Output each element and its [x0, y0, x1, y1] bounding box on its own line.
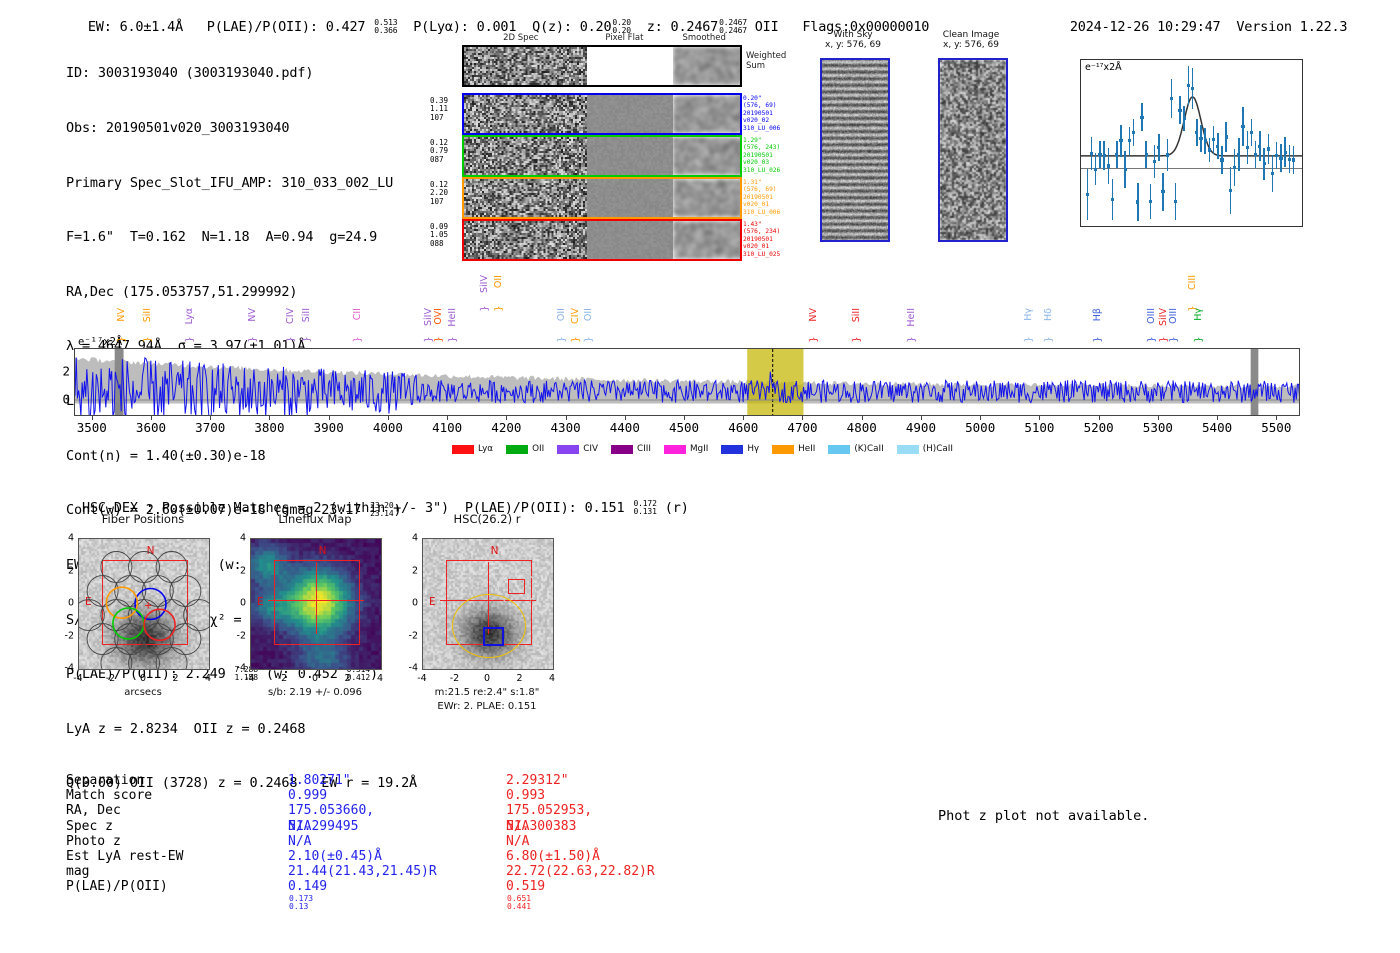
emission-line-label: SiII	[142, 308, 153, 322]
cutout-y-tick: 0	[228, 598, 246, 609]
emission-line-label: OIII	[1168, 308, 1179, 324]
cutout-x-tick: 0	[140, 673, 146, 684]
smoothed-image	[673, 47, 740, 85]
data-point	[1220, 158, 1223, 161]
match-col2-value: N/A	[506, 819, 529, 834]
emission-line-brace: {	[570, 336, 581, 342]
emission-line-brace: {	[556, 336, 567, 342]
spec2d-meta-line: 310_LU_025	[743, 251, 787, 258]
data-point	[1258, 145, 1261, 148]
emission-line-label: SiIV	[1158, 308, 1169, 326]
spectrum-x-tick: 5400	[1202, 420, 1232, 435]
spec2d-image	[464, 137, 587, 175]
spec2d-strip	[462, 45, 742, 87]
spec2d-meta-line: (576, 234)	[743, 228, 787, 235]
emission-line-label: OII	[583, 308, 594, 321]
spectrum-x-tick: 3600	[136, 420, 166, 435]
emission-line-label: Lyα	[184, 308, 195, 324]
emission-line-brace: {	[301, 336, 312, 342]
cutout-y-tick: 2	[56, 565, 74, 576]
spectrum-x-tick: 5000	[965, 420, 995, 435]
compass-north-label: N	[491, 545, 499, 557]
pixel-flat-image	[587, 95, 672, 133]
data-point	[1132, 131, 1135, 134]
cutout-y-tick: 0	[400, 598, 418, 609]
emission-line-brace: {	[432, 336, 443, 342]
cutout-title: HSC(26.2) r	[422, 512, 552, 526]
data-point	[1250, 131, 1253, 134]
cutout-image-1[interactable]: NE	[250, 538, 382, 670]
image-thumbnail-group: With Skyx, y: 576, 69Clean Imagex, y: 57…	[808, 30, 1023, 270]
legend-label: (K)CaII	[854, 444, 883, 454]
data-point	[1233, 166, 1236, 169]
spec2d-row-meta: 1.43"(576, 234)20190501v020_01310_LU_025	[743, 221, 787, 258]
spec2d-meta-line: 310_LU_006	[743, 209, 787, 216]
legend-item: (K)CaII	[828, 444, 883, 455]
spectrum-x-tick-mark	[151, 416, 152, 420]
spec2d-meta-line: v020_01	[743, 243, 787, 250]
spec2d-meta-line: 310_LU_026	[743, 167, 787, 174]
crosshair-vertical	[316, 562, 317, 634]
data-point	[1153, 160, 1156, 163]
pixel-flat-image	[587, 221, 672, 259]
match-row-label: mag	[66, 864, 266, 879]
y-tick-mark	[1080, 145, 1081, 146]
legend-item: Lyα	[452, 444, 493, 455]
info-cont-n: Cont(n) = 1.40(±0.30)e-18	[66, 447, 417, 465]
data-point	[1178, 109, 1181, 112]
match-col2-value: 2.29312"	[506, 773, 569, 788]
match-col2-value: N/A	[506, 834, 529, 849]
spec2d-meta-line: 20190501	[743, 194, 787, 201]
legend-swatch	[828, 445, 850, 454]
legend-swatch	[557, 445, 579, 454]
legend-swatch	[506, 445, 528, 454]
spectrum-x-tick: 4200	[491, 420, 521, 435]
spectrum-x-tick: 4900	[906, 420, 936, 435]
legend-label: MgII	[690, 444, 708, 454]
emission-plot-axes: e⁻¹⁷x2Å -1.0-0.50.00.51.01.52.0460046204…	[1080, 59, 1303, 227]
thumbnail-coords: x, y: 576, 69	[926, 40, 1016, 50]
wavelength-highlight-band	[747, 349, 803, 416]
thumbnail-coords: x, y: 576, 69	[808, 40, 898, 50]
data-point	[1149, 200, 1152, 203]
cutout-y-tick: -2	[228, 630, 246, 641]
x-tick-mark	[1260, 226, 1261, 227]
x-tick-mark	[1302, 226, 1303, 227]
spec2d-column-title-1: Pixel Flat	[605, 33, 643, 43]
emission-line-label: Hδ	[1043, 308, 1054, 321]
data-point	[1094, 168, 1097, 171]
emission-line-brace: {	[1168, 336, 1179, 342]
spec2d-image	[464, 221, 587, 259]
spec2d-row-metrics: 0.120.79087	[430, 139, 460, 164]
cutout-y-tick: 0	[56, 598, 74, 609]
data-point	[1204, 139, 1207, 142]
spec2d-image	[464, 179, 587, 217]
photz-note: Phot z plot not available.	[938, 808, 1149, 824]
cutout-y-tick: 2	[400, 565, 418, 576]
emission-line-label: Hγ	[1193, 308, 1204, 321]
spec2d-metric: 107	[430, 114, 460, 122]
spec2d-meta-line: v020_01	[743, 201, 787, 208]
cutout-x-tick: -2	[450, 673, 459, 684]
spectrum-x-tick-mark	[862, 416, 863, 420]
emission-line-brace: {	[447, 336, 458, 342]
spec2d-metric: 107	[430, 198, 460, 206]
legend-swatch	[772, 445, 794, 454]
spectrum-x-tick-mark	[506, 416, 507, 420]
emission-line-brace: {	[493, 305, 504, 311]
emission-line-brace: {	[807, 336, 818, 342]
spectrum-trace	[75, 349, 1300, 416]
match-col1-value: N/A	[288, 819, 311, 834]
emission-line-plot: e⁻¹⁷x2Å -1.0-0.50.00.51.01.52.0460046204…	[1038, 55, 1306, 255]
emission-line-label: NV	[808, 308, 819, 322]
spectrum-x-tick-mark	[92, 416, 93, 420]
data-point	[1086, 193, 1089, 196]
compass-east-label: E	[429, 596, 436, 608]
emission-line-label: OIII	[1146, 308, 1157, 324]
legend-label: CIV	[583, 444, 598, 454]
emission-line-brace: {	[850, 336, 861, 342]
spec2d-meta-line: 1.29"	[743, 137, 787, 144]
spec2d-row-metrics: 0.391.11107	[430, 97, 460, 122]
emission-line-label: SiIV	[479, 275, 490, 293]
spectrum-x-tick-mark	[802, 416, 803, 420]
emission-line-brace: {	[583, 336, 594, 342]
match-col1-value: 1.80271"	[288, 773, 351, 788]
match-col1-value: N/A	[288, 834, 311, 849]
cutout-y-tick: 4	[56, 533, 74, 544]
emission-line-brace: {	[247, 336, 258, 342]
compass-north-label: N	[319, 545, 327, 557]
legend-label: (H)CaII	[923, 444, 953, 454]
cutout-x-tick: 4	[205, 673, 211, 684]
data-point	[1288, 158, 1291, 161]
match-marker-blue	[483, 627, 504, 646]
emission-line-label: CIII	[1187, 275, 1198, 290]
cutout-y-tick: -4	[400, 663, 418, 674]
spectrum-x-tick-mark	[1217, 416, 1218, 420]
x-tick-mark	[1218, 226, 1219, 227]
spec2d-row-meta: 0.20"(576, 69)20190501v020_02310_LU_006	[743, 95, 787, 132]
data-point	[1107, 164, 1110, 167]
spec2d-meta-line: 1.31"	[743, 179, 787, 186]
cutout-x-tick: 2	[172, 673, 178, 684]
spectrum-x-tick-mark	[447, 416, 448, 420]
data-point	[1140, 116, 1143, 119]
spectrum-x-tick-mark	[269, 416, 270, 420]
x-tick-mark	[1092, 226, 1093, 227]
spec2d-image	[464, 95, 587, 133]
data-point	[1170, 97, 1173, 100]
spec2d-meta-line: (576, 243)	[743, 144, 787, 151]
spectrum-x-tick-mark	[625, 416, 626, 420]
spec2d-meta-line: v020_02	[743, 117, 787, 124]
legend-label: HeII	[798, 444, 815, 454]
emission-line-brace: {	[1193, 336, 1204, 342]
match-row-label: Match score	[66, 788, 266, 803]
cutout-caption-2: EWr: 2. PLAE: 0.151	[402, 701, 572, 712]
cutout-x-tick: 4	[549, 673, 555, 684]
spec2d-strip	[462, 93, 742, 135]
legend-item: HeII	[772, 444, 815, 455]
emission-line-label: SiII	[301, 308, 312, 322]
data-point	[1267, 147, 1270, 150]
match-row-label: Spec z	[66, 819, 266, 834]
legend-item: CIII	[611, 444, 651, 455]
cutout-y-tick: 4	[228, 533, 246, 544]
emission-line-brace: {	[1091, 336, 1102, 342]
x-tick-mark	[1176, 226, 1177, 227]
info-id: ID: 3003193040 (3003193040.pdf)	[66, 64, 417, 82]
spectrum-x-tick-mark	[566, 416, 567, 420]
pixel-flat-image	[587, 137, 672, 175]
spec2d-meta-line: 310_LU_006	[743, 125, 787, 132]
data-point	[1284, 151, 1287, 154]
data-point	[1183, 117, 1186, 120]
spec2d-meta-line: v020_03	[743, 159, 787, 166]
data-point	[1090, 152, 1093, 155]
data-point	[1174, 200, 1177, 203]
emission-line-label: Hβ	[1092, 308, 1103, 321]
data-point	[1098, 153, 1101, 156]
spectrum-y-tick: 2	[60, 363, 70, 378]
match-col1-plae: 0.149	[288, 879, 327, 894]
emission-line-brace: {	[184, 336, 195, 342]
spec2d-meta-line: 20190501	[743, 152, 787, 159]
cutout-title: Lineflux Map	[250, 512, 380, 526]
cutout-x-tick: -2	[106, 673, 115, 684]
data-point	[1166, 153, 1169, 156]
data-point	[1229, 189, 1232, 192]
match-row-label: Photo z	[66, 834, 266, 849]
emission-line-brace: {	[142, 336, 153, 342]
weighted-sum-label: Weighted Sum	[746, 51, 786, 71]
cutout-x-tick: -4	[245, 673, 254, 684]
spectrum-x-tick: 5300	[1143, 420, 1173, 435]
spectrum-x-tick: 4300	[551, 420, 581, 435]
spectrum-legend: LyαOIICIVCIIIMgIIHγHeII(K)CaII(H)CaII	[452, 444, 966, 455]
cutout-x-tick: -2	[278, 673, 287, 684]
smoothed-image	[673, 221, 740, 259]
spectrum-x-tick: 4600	[728, 420, 758, 435]
spectrum-x-tick: 4000	[373, 420, 403, 435]
data-point	[1246, 146, 1249, 149]
header-timestamp-version: 2024-12-26 10:29:47 Version 1.22.3	[1054, 3, 1347, 35]
masked-region	[1251, 349, 1259, 416]
match-row-label: Est LyA rest-EW	[66, 849, 266, 864]
legend-item: Hγ	[721, 444, 759, 455]
full-spectrum-plot	[74, 348, 1300, 416]
data-point	[1279, 157, 1282, 160]
spectrum-x-tick-mark	[743, 416, 744, 420]
cutout-image-2[interactable]: NE	[422, 538, 554, 670]
emission-line-label: NV	[116, 308, 127, 322]
spec2d-meta-line: (576, 69)	[743, 102, 787, 109]
match-col2-value: 0.993	[506, 788, 545, 803]
emission-line-label: HeII	[447, 308, 458, 327]
cutout-image-0[interactable]: NE+	[78, 538, 210, 670]
thumbnail-image	[938, 58, 1008, 242]
spectrum-x-tick-mark	[210, 416, 211, 420]
data-point	[1263, 162, 1266, 165]
match-col1-plae-uncertainty: 0.1730.13	[289, 895, 313, 911]
data-point	[1216, 145, 1219, 148]
emission-line-brace: {	[1043, 336, 1054, 342]
emission-line-label: CII	[352, 308, 363, 320]
legend-item: CIV	[557, 444, 598, 455]
data-point	[1115, 153, 1118, 156]
spectrum-x-tick-mark	[1099, 416, 1100, 420]
pixel-flat-image	[587, 179, 672, 217]
spec2d-row-meta: 1.31"(576, 69)20190501v020_01310_LU_006	[743, 179, 787, 216]
cutout-y-tick: 4	[400, 533, 418, 544]
emission-line-label: HeII	[906, 308, 917, 327]
data-point	[1212, 138, 1215, 141]
emission-line-label: Hγ	[1023, 308, 1034, 321]
info-fwhm-throughput: F=1.6" T=0.162 N=1.18 A=0.94 g=24.9	[66, 228, 417, 246]
spec2d-strip	[462, 177, 742, 219]
cutout-title: Fiber Positions	[78, 512, 208, 526]
data-point	[1292, 158, 1295, 161]
legend-swatch	[721, 445, 743, 454]
target-marker: +	[145, 598, 152, 612]
emission-line-brace: {	[905, 336, 916, 342]
version-label: Version 1.22.3	[1236, 19, 1347, 35]
data-point	[1225, 135, 1228, 138]
spectrum-x-tick: 5100	[1024, 420, 1054, 435]
match-col1-value: 21.44(21.43,21.45)R	[288, 864, 437, 879]
cutout-x-tick: 0	[484, 673, 490, 684]
spectrum-x-tick: 4700	[787, 420, 817, 435]
spec2d-metric: 088	[430, 240, 460, 248]
legend-label: Lyα	[478, 444, 493, 454]
thumbnail-image	[820, 58, 890, 242]
match-col1-value: 0.999	[288, 788, 327, 803]
cutout-xlabel: arcsecs	[78, 687, 208, 698]
cutout-x-tick: 0	[312, 673, 318, 684]
thumbnail-title: Clean Image	[926, 30, 1016, 40]
data-point	[1128, 139, 1131, 142]
spec2d-metric: 087	[430, 156, 460, 164]
spectrum-x-tick: 4800	[847, 420, 877, 435]
pixel-flat-image	[587, 47, 672, 85]
cutout-x-tick: 4	[377, 673, 383, 684]
emission-line-brace: {	[1157, 336, 1168, 342]
spectrum-x-tick-mark	[921, 416, 922, 420]
spectrum-x-tick: 3900	[314, 420, 344, 435]
spectrum-x-tick-mark	[1039, 416, 1040, 420]
data-point	[1161, 190, 1164, 193]
match-col2-value: 6.80(±1.50)Å	[506, 849, 600, 864]
emission-line-label: OII	[493, 275, 504, 288]
spec2d-row-meta: 1.29"(576, 243)20190501v020_03310_LU_026	[743, 137, 787, 174]
legend-item: MgII	[664, 444, 708, 455]
smoothed-image	[673, 137, 740, 175]
spectrum-x-tick: 3500	[77, 420, 107, 435]
match-row-label: Separation	[66, 773, 266, 788]
spectrum-x-tick-mark	[329, 416, 330, 420]
spec2d-column-title-0: 2D Spec	[503, 33, 538, 43]
cutout-y-tick: -4	[228, 663, 246, 674]
data-point	[1195, 131, 1198, 134]
y-tick-mark	[1080, 99, 1081, 100]
y-tick-mark	[1080, 191, 1081, 192]
spectrum-x-tick-mark	[980, 416, 981, 420]
legend-item: (H)CaII	[897, 444, 953, 455]
cutout-y-tick: 2	[228, 565, 246, 576]
cutout-x-tick: 2	[344, 673, 350, 684]
cutout-x-tick: -4	[73, 673, 82, 684]
spec2d-meta-line: (576, 69)	[743, 186, 787, 193]
spectrum-x-tick: 3800	[254, 420, 284, 435]
info-radec: RA,Dec (175.053757,51.299992)	[66, 283, 417, 301]
y-tick-mark	[1080, 122, 1081, 123]
spec2d-column-title-2: Smoothed	[682, 33, 725, 43]
spec2d-meta-line: 20190501	[743, 236, 787, 243]
match-col2-plae: 0.519	[506, 879, 545, 894]
data-point	[1136, 200, 1139, 203]
data-point	[1124, 168, 1127, 171]
emission-line-label: OVI	[433, 308, 444, 325]
emission-line-brace: {	[351, 336, 362, 342]
spectrum-x-tick: 4500	[669, 420, 699, 435]
emission-line-label: SiII	[851, 308, 862, 322]
spectrum-x-tick: 5200	[1084, 420, 1114, 435]
cutout-group: Fiber PositionsNE+-4-4-2-2002244arcsecsL…	[60, 512, 680, 727]
compass-east-label: E	[257, 596, 264, 608]
thumbnail-title: With Sky	[808, 30, 898, 40]
y-tick-mark	[1080, 168, 1081, 169]
data-point	[1103, 154, 1106, 157]
emission-line-label: CIV	[285, 308, 296, 324]
data-point	[1271, 172, 1274, 175]
data-point	[1145, 153, 1148, 156]
spec2d-meta-line: 1.43"	[743, 221, 787, 228]
data-point	[1187, 84, 1190, 87]
emission-line-label: OII	[556, 308, 567, 321]
thumbnail-caption: With Skyx, y: 576, 69	[808, 30, 898, 50]
legend-label: CIII	[637, 444, 651, 454]
spectrum-x-tick: 5500	[1261, 420, 1291, 435]
info-obs: Obs: 20190501v020_3003193040	[66, 119, 417, 137]
spectrum-x-tick-mark	[1158, 416, 1159, 420]
cutout-caption-1: s/b: 2.19 +/- 0.096	[230, 687, 400, 698]
cutout-x-tick: 2	[516, 673, 522, 684]
data-point	[1275, 154, 1278, 157]
spectrum-x-tick: 4100	[432, 420, 462, 435]
match-col2-value: 22.72(22.63,22.82)R	[506, 864, 655, 879]
spectrum-y-tick: 0	[60, 392, 70, 407]
data-point	[1199, 137, 1202, 140]
legend-label: OII	[532, 444, 544, 454]
full-spectrum-axes	[74, 348, 1300, 416]
spectrum-x-tick-mark	[1276, 416, 1277, 420]
info-primary-spec: Primary Spec_Slot_IFU_AMP: 310_033_002_L…	[66, 174, 417, 192]
match-col1-value: 0.1490.1730.13	[288, 879, 327, 910]
spec2d-image	[464, 47, 587, 85]
timestamp: 2024-12-26 10:29:47	[1070, 19, 1221, 35]
emission-line-brace: {	[285, 336, 296, 342]
match-col2-plae-uncertainty: 0.6510.441	[507, 895, 531, 911]
smoothed-image	[673, 95, 740, 133]
spectrum-x-tick: 4400	[610, 420, 640, 435]
legend-item: OII	[506, 444, 544, 455]
spec2d-row-metrics: 0.091.05088	[430, 223, 460, 248]
data-point	[1191, 87, 1194, 90]
